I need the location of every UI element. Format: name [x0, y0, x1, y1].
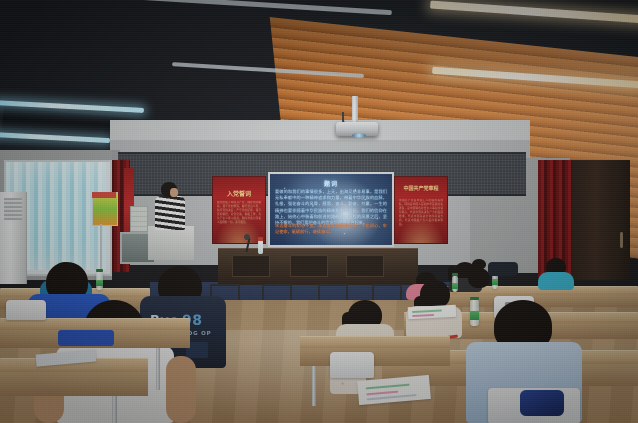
- air-conditioner-vent: [4, 198, 22, 220]
- bottle-cap-left-far: [96, 269, 103, 272]
- presenter-face: [170, 188, 178, 197]
- water-bottle-right-near: [470, 300, 479, 326]
- banner-party-constitution: 中国共产党章程 中国共产党是中国工人阶级的先锋队，同时是中国人民和中华民族的先锋…: [394, 176, 448, 244]
- banner-left-body: 我志愿加入中国共产党，拥护党的纲领，遵守党的章程，履行党员义务，执行党的决定，严…: [217, 201, 261, 235]
- water-bottle-left-far: [96, 272, 103, 290]
- bottle-label-left-far: [96, 280, 103, 286]
- poster-header-strip: [92, 192, 116, 198]
- chair-center-right[interactable]: [330, 352, 374, 378]
- paper-line: [367, 394, 417, 400]
- paper-line: [412, 314, 434, 317]
- wall-switch-plate[interactable]: [130, 206, 148, 232]
- projector-lens: [352, 133, 366, 138]
- banner-right-body: 中国共产党是中国工人阶级的先锋队，同时是中国人民和中华民族的先锋队，是中国特色社…: [399, 199, 443, 237]
- bottle-label-far-1: [452, 283, 458, 289]
- chair-left-1[interactable]: [6, 300, 46, 320]
- presenter-torso: [155, 196, 185, 230]
- console-panel-3: [346, 255, 384, 277]
- bag-on-desk: [488, 262, 518, 276]
- slide-body-text: 要做的和我们的事情很多，上天，出海又绝非易事，是我们无私奉献中的一种精神追求和力…: [275, 189, 387, 226]
- door-handle[interactable]: [620, 232, 623, 248]
- paper-line: [366, 384, 410, 390]
- desk-center-right-leg: [312, 366, 316, 406]
- backpack-strap: [520, 390, 564, 416]
- poster-board-stand: [100, 224, 102, 272]
- slide-title: 题词: [270, 179, 392, 188]
- classroom-photo-scene: 入党誓词 我志愿加入中国共产党，拥护党的纲领，遵守党的章程，履行党员义务，执行党…: [0, 0, 638, 423]
- water-bottle-far-1: [452, 276, 458, 292]
- projection-screen: 题词 要做的和我们的事情很多，上天，出海又绝非易事，是我们无私奉献中的一种精神追…: [268, 172, 394, 247]
- student-white-tank-arm-right: [166, 356, 196, 423]
- student-cyan-shirt-body: [538, 272, 574, 290]
- desk-center-right-front: [300, 348, 450, 366]
- desk-left-near-leg: [112, 396, 117, 423]
- desk-left-near-front: [0, 372, 148, 396]
- console-panel-1: [232, 255, 270, 277]
- presenter-podium: [148, 226, 194, 260]
- banner-right-title: 中国共产党章程: [395, 185, 447, 192]
- bottle-cap-right-near: [470, 297, 479, 300]
- gooseneck-microphone: [244, 234, 250, 240]
- student-bun-knot: [472, 259, 486, 270]
- water-bottle-podium: [258, 240, 263, 254]
- bottle-cap-far-1: [452, 273, 458, 276]
- paper-line: [366, 391, 398, 396]
- bottle-label-far-2: [492, 279, 498, 285]
- banner-left-title: 入党誓词: [213, 189, 265, 198]
- stage-console-desk: [218, 248, 418, 285]
- water-bottle-cap-podium: [258, 237, 263, 241]
- bottle-label-right-near: [470, 311, 479, 320]
- student-bun-hair-head: [468, 268, 490, 288]
- worksheet-paper-right-1: [408, 305, 457, 319]
- desk-left-mid-leg: [156, 348, 160, 390]
- chair-left-cushion-blue: [58, 330, 114, 346]
- paper-line: [412, 309, 442, 313]
- banner-party-oath: 入党誓词 我志愿加入中国共产党，拥护党的纲领，遵守党的章程，履行党员义务，执行党…: [212, 176, 266, 244]
- wooden-door[interactable]: [568, 160, 630, 280]
- slide-accent-text: 永远奋斗的初心不变，永远奋斗的使命不改；不忘初心，牢记使命，砥砺前行，继续奋斗。: [275, 223, 387, 235]
- console-panel-2: [290, 255, 328, 277]
